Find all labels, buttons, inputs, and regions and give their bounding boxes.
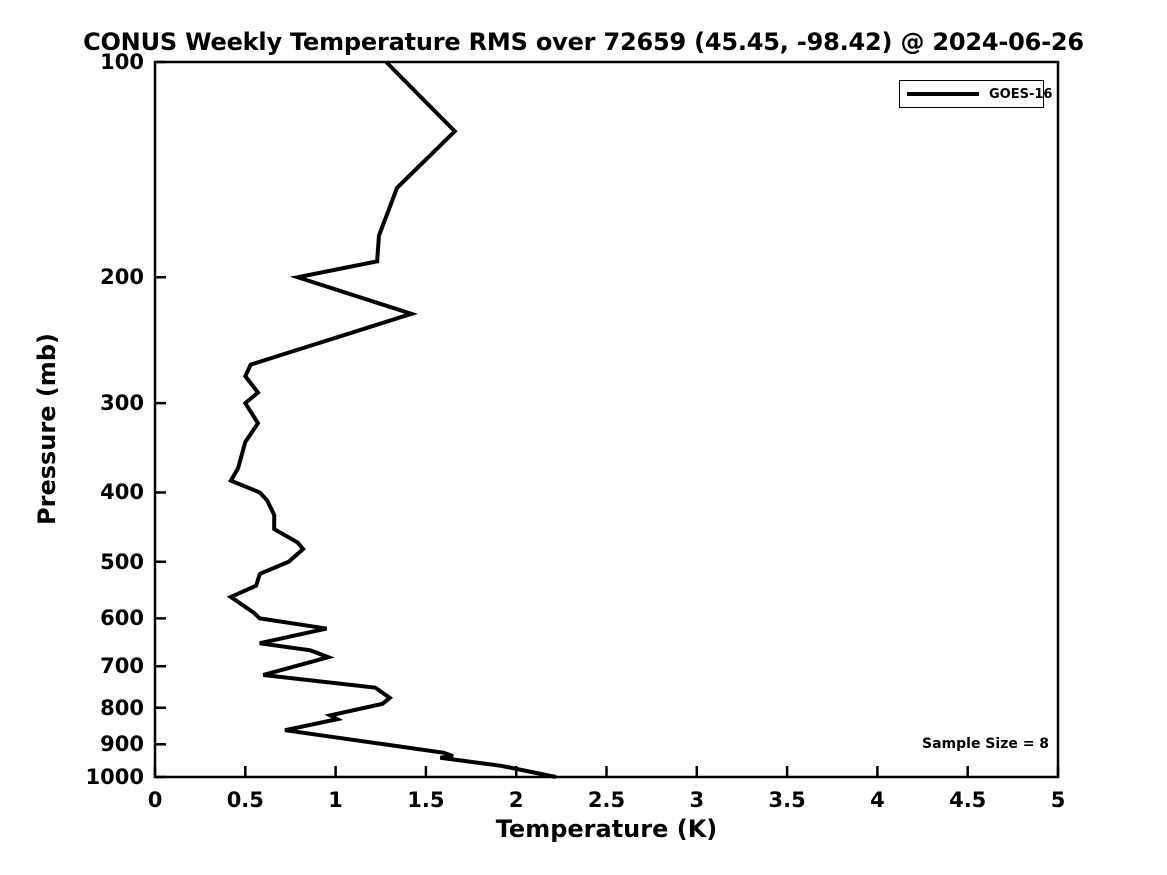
x-tick-label: 2.5: [588, 788, 625, 812]
y-tick-label: 700: [40, 654, 144, 678]
y-tick-label: 200: [40, 265, 144, 289]
sample-size-annotation: Sample Size = 8: [922, 736, 1049, 752]
y-tick-label: 600: [40, 606, 144, 630]
legend-line-swatch-goes-16: [907, 92, 979, 96]
y-tick-label: 900: [40, 732, 144, 756]
y-tick-label: 100: [40, 50, 144, 74]
x-axis-title: Temperature (K): [155, 815, 1058, 843]
y-tick-label: 500: [40, 550, 144, 574]
data-series-group: [231, 62, 556, 777]
y-tick-label: 800: [40, 696, 144, 720]
x-tick-label: 0.5: [227, 788, 264, 812]
series-line-goes-16: [231, 62, 556, 777]
y-axis-ticks: [155, 62, 166, 777]
x-tick-label: 4: [870, 788, 885, 812]
chart-figure: CONUS Weekly Temperature RMS over 72659 …: [0, 0, 1167, 875]
legend-label-goes-16: GOES-16: [989, 87, 1052, 102]
legend: GOES-16: [899, 80, 1044, 108]
y-tick-label: 1000: [40, 765, 144, 789]
y-axis-title: Pressure (mb): [33, 329, 61, 529]
x-tick-label: 1.5: [407, 788, 444, 812]
x-tick-label: 0: [148, 788, 163, 812]
x-tick-label: 3: [689, 788, 704, 812]
x-tick-label: 5: [1051, 788, 1066, 812]
x-tick-label: 1: [328, 788, 343, 812]
x-tick-label: 4.5: [949, 788, 986, 812]
x-tick-label: 3.5: [768, 788, 805, 812]
x-axis-ticks: [155, 766, 1058, 777]
x-tick-label: 2: [509, 788, 524, 812]
axes-frame: [155, 62, 1058, 777]
